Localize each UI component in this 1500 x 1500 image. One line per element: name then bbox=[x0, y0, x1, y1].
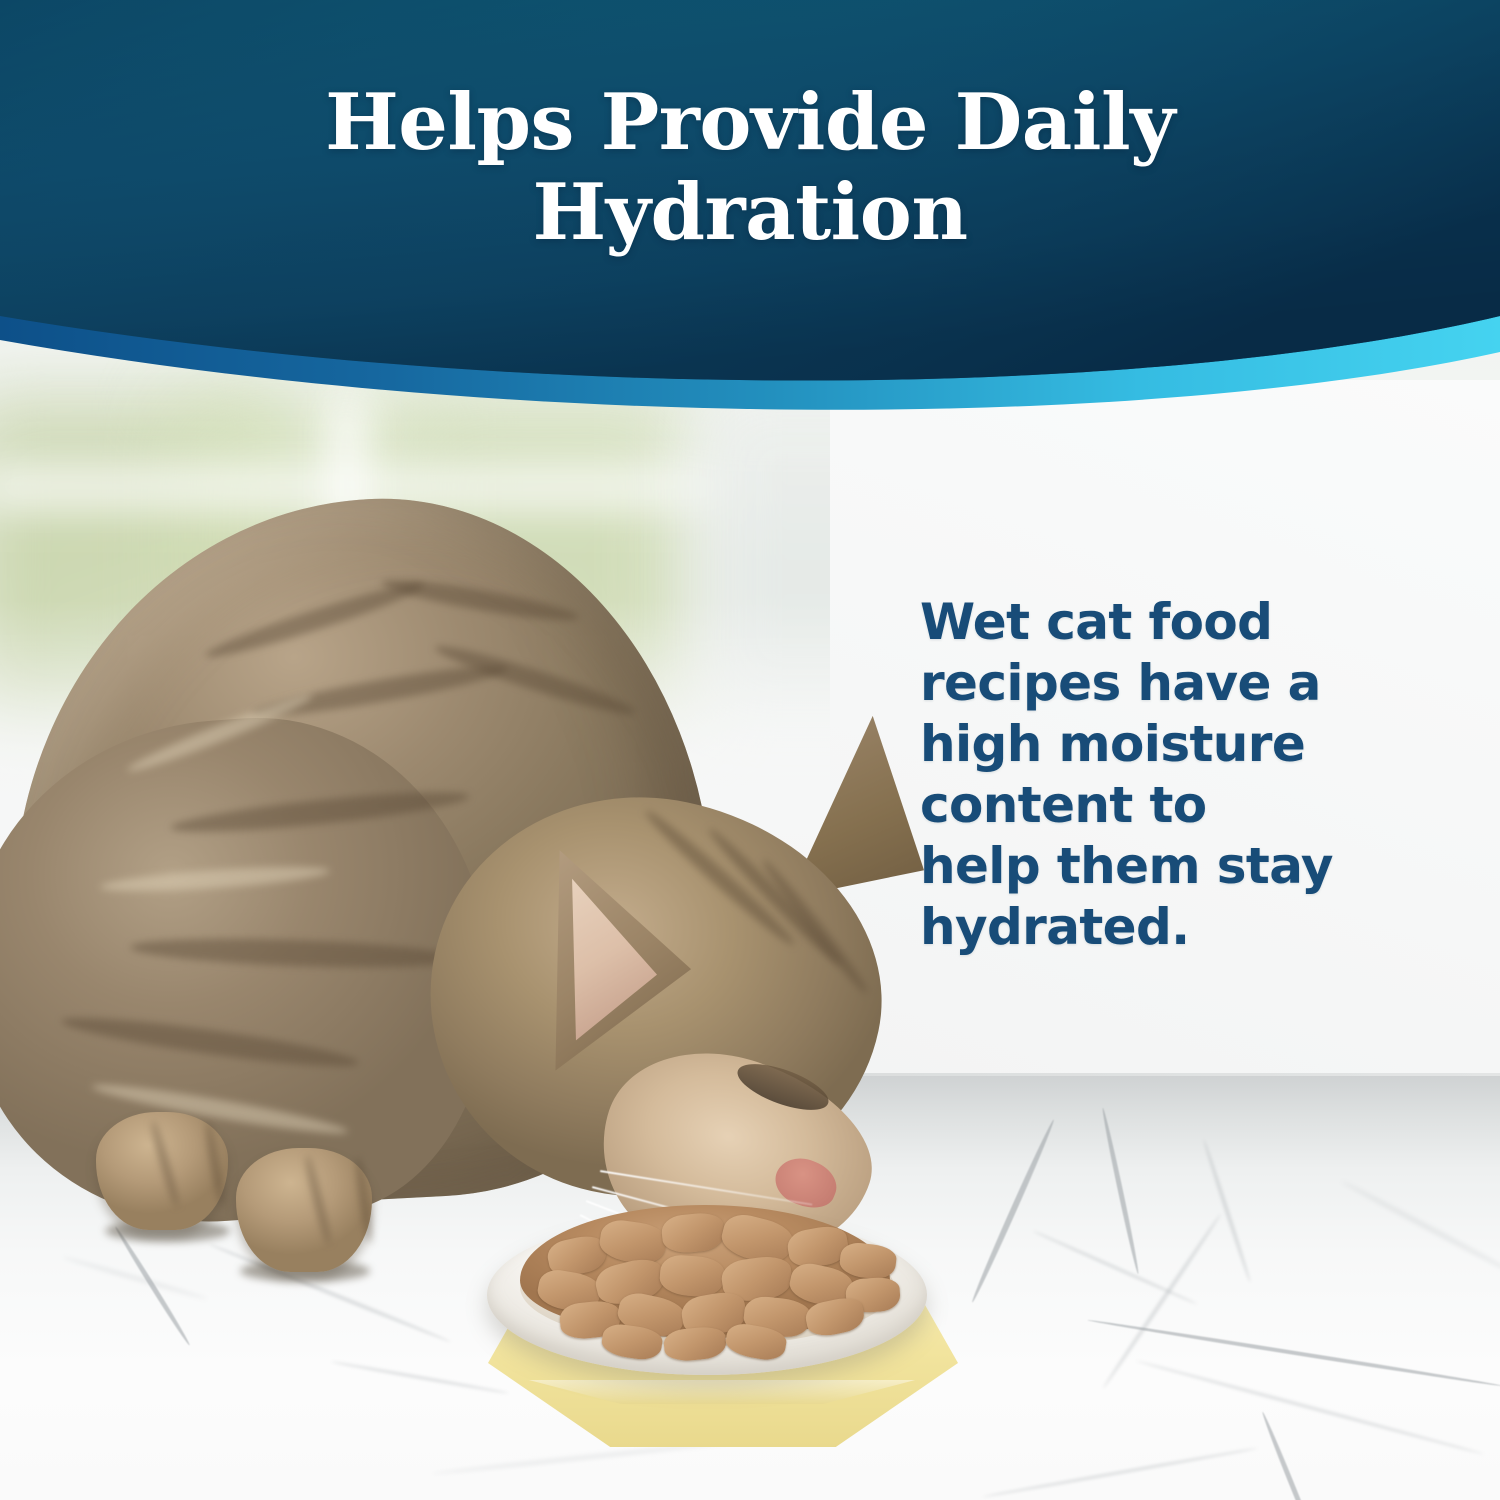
body-copy-line: content to bbox=[920, 775, 1420, 836]
promo-banner-card: Helps Provide Daily Hydration Wet cat fo… bbox=[0, 0, 1500, 1500]
body-copy-line: high moisture bbox=[920, 714, 1420, 775]
body-copy: Wet cat food recipes have a high moistur… bbox=[920, 592, 1420, 958]
title-line-1: Helps Provide Daily bbox=[0, 78, 1500, 168]
cat-paw-front bbox=[236, 1148, 372, 1272]
page-title: Helps Provide Daily Hydration bbox=[0, 78, 1500, 259]
body-copy-line: Wet cat food bbox=[920, 592, 1420, 653]
cat-photo-subject bbox=[0, 470, 900, 1300]
body-copy-line: help them stay bbox=[920, 836, 1420, 897]
header-banner: Helps Provide Daily Hydration bbox=[0, 0, 1500, 420]
body-copy-line: recipes have a bbox=[920, 653, 1420, 714]
body-copy-line: hydrated. bbox=[920, 897, 1420, 958]
title-line-2: Hydration bbox=[0, 168, 1500, 258]
